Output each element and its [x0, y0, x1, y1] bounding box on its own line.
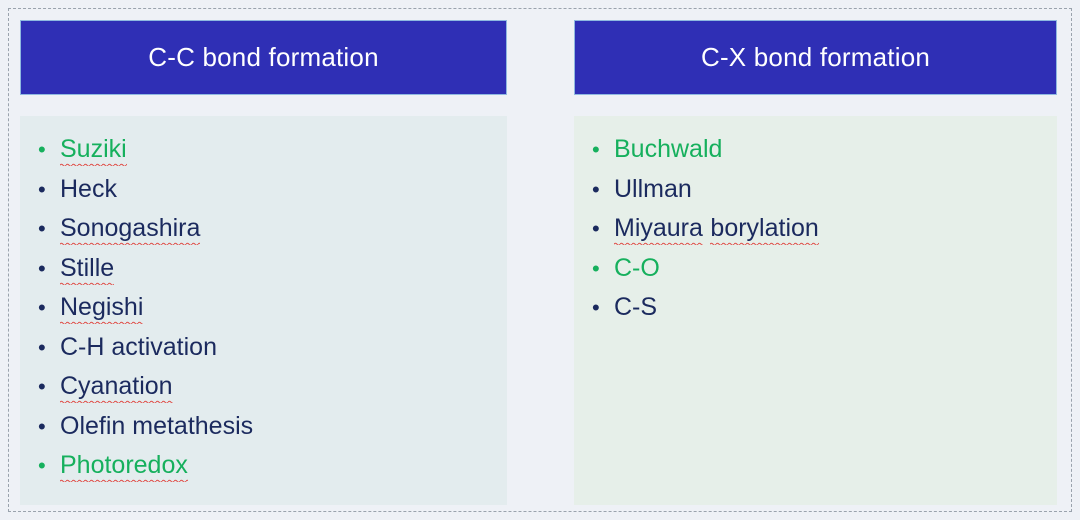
- list-item[interactable]: •Heck: [38, 174, 497, 214]
- misspelled-word: Sonogashira: [60, 213, 200, 245]
- column-header-c-c: C-C bond formation: [20, 20, 507, 95]
- bullet-icon: •: [38, 372, 60, 402]
- list-item-label: Ullman: [614, 174, 692, 204]
- bullet-icon: •: [38, 254, 60, 284]
- list-item-label: C-H activation: [60, 332, 217, 362]
- reaction-list-c-c: •Suziki•Heck•Sonogashira•Stille•Negishi•…: [38, 134, 497, 490]
- list-item[interactable]: •Stille: [38, 253, 497, 293]
- bullet-icon: •: [592, 293, 614, 323]
- list-item-label: Sonogashira: [60, 213, 200, 245]
- list-item-label: Photoredox: [60, 450, 188, 482]
- list-item[interactable]: •Suziki: [38, 134, 497, 174]
- bullet-icon: •: [592, 214, 614, 244]
- column-body-c-c: •Suziki•Heck•Sonogashira•Stille•Negishi•…: [20, 116, 507, 505]
- list-item[interactable]: •Sonogashira: [38, 213, 497, 253]
- bullet-icon: •: [38, 135, 60, 165]
- columns-container: C-C bond formation •Suziki•Heck•Sonogash…: [0, 0, 1080, 520]
- bullet-icon: •: [38, 214, 60, 244]
- bullet-icon: •: [592, 135, 614, 165]
- misspelled-word: Miyaura: [614, 213, 703, 245]
- column-c-x-bond-formation: C-X bond formation •Buchwald•Ullman•Miya…: [574, 20, 1057, 505]
- column-c-c-bond-formation: C-C bond formation •Suziki•Heck•Sonogash…: [20, 20, 507, 505]
- list-item-label: Miyauraborylation: [614, 213, 819, 245]
- bullet-icon: •: [38, 333, 60, 363]
- list-item[interactable]: •Buchwald: [592, 134, 1047, 174]
- list-item-label: Olefin metathesis: [60, 411, 253, 441]
- list-item[interactable]: •Negishi: [38, 292, 497, 332]
- list-item[interactable]: •C-O: [592, 253, 1047, 293]
- bullet-icon: •: [38, 451, 60, 481]
- list-item[interactable]: •C-S: [592, 292, 1047, 332]
- bullet-icon: •: [592, 254, 614, 284]
- list-item-label: Buchwald: [614, 134, 722, 164]
- list-item-label: Suziki: [60, 134, 127, 166]
- list-item-label: C-S: [614, 292, 657, 322]
- misspelled-word: Stille: [60, 253, 114, 285]
- bullet-icon: •: [38, 412, 60, 442]
- bullet-icon: •: [592, 175, 614, 205]
- bullet-icon: •: [38, 175, 60, 205]
- list-item[interactable]: •Cyanation: [38, 371, 497, 411]
- bullet-icon: •: [38, 293, 60, 323]
- misspelled-word: Photoredox: [60, 450, 188, 482]
- list-item[interactable]: •Ullman: [592, 174, 1047, 214]
- column-body-c-x: •Buchwald•Ullman•Miyauraborylation•C-O•C…: [574, 116, 1057, 505]
- list-item-label: Negishi: [60, 292, 143, 324]
- misspelled-word: Negishi: [60, 292, 143, 324]
- misspelled-word: Suziki: [60, 134, 127, 166]
- list-item-label: C-O: [614, 253, 660, 283]
- reaction-list-c-x: •Buchwald•Ullman•Miyauraborylation•C-O•C…: [592, 134, 1047, 332]
- list-item-label: Stille: [60, 253, 114, 285]
- column-header-c-x: C-X bond formation: [574, 20, 1057, 95]
- misspelled-word: borylation: [710, 213, 818, 245]
- list-item[interactable]: •Olefin metathesis: [38, 411, 497, 451]
- list-item-label: Cyanation: [60, 371, 173, 403]
- misspelled-word: Cyanation: [60, 371, 173, 403]
- list-item[interactable]: •Miyauraborylation: [592, 213, 1047, 253]
- list-item[interactable]: •C-H activation: [38, 332, 497, 372]
- list-item-label: Heck: [60, 174, 117, 204]
- list-item[interactable]: •Photoredox: [38, 450, 497, 490]
